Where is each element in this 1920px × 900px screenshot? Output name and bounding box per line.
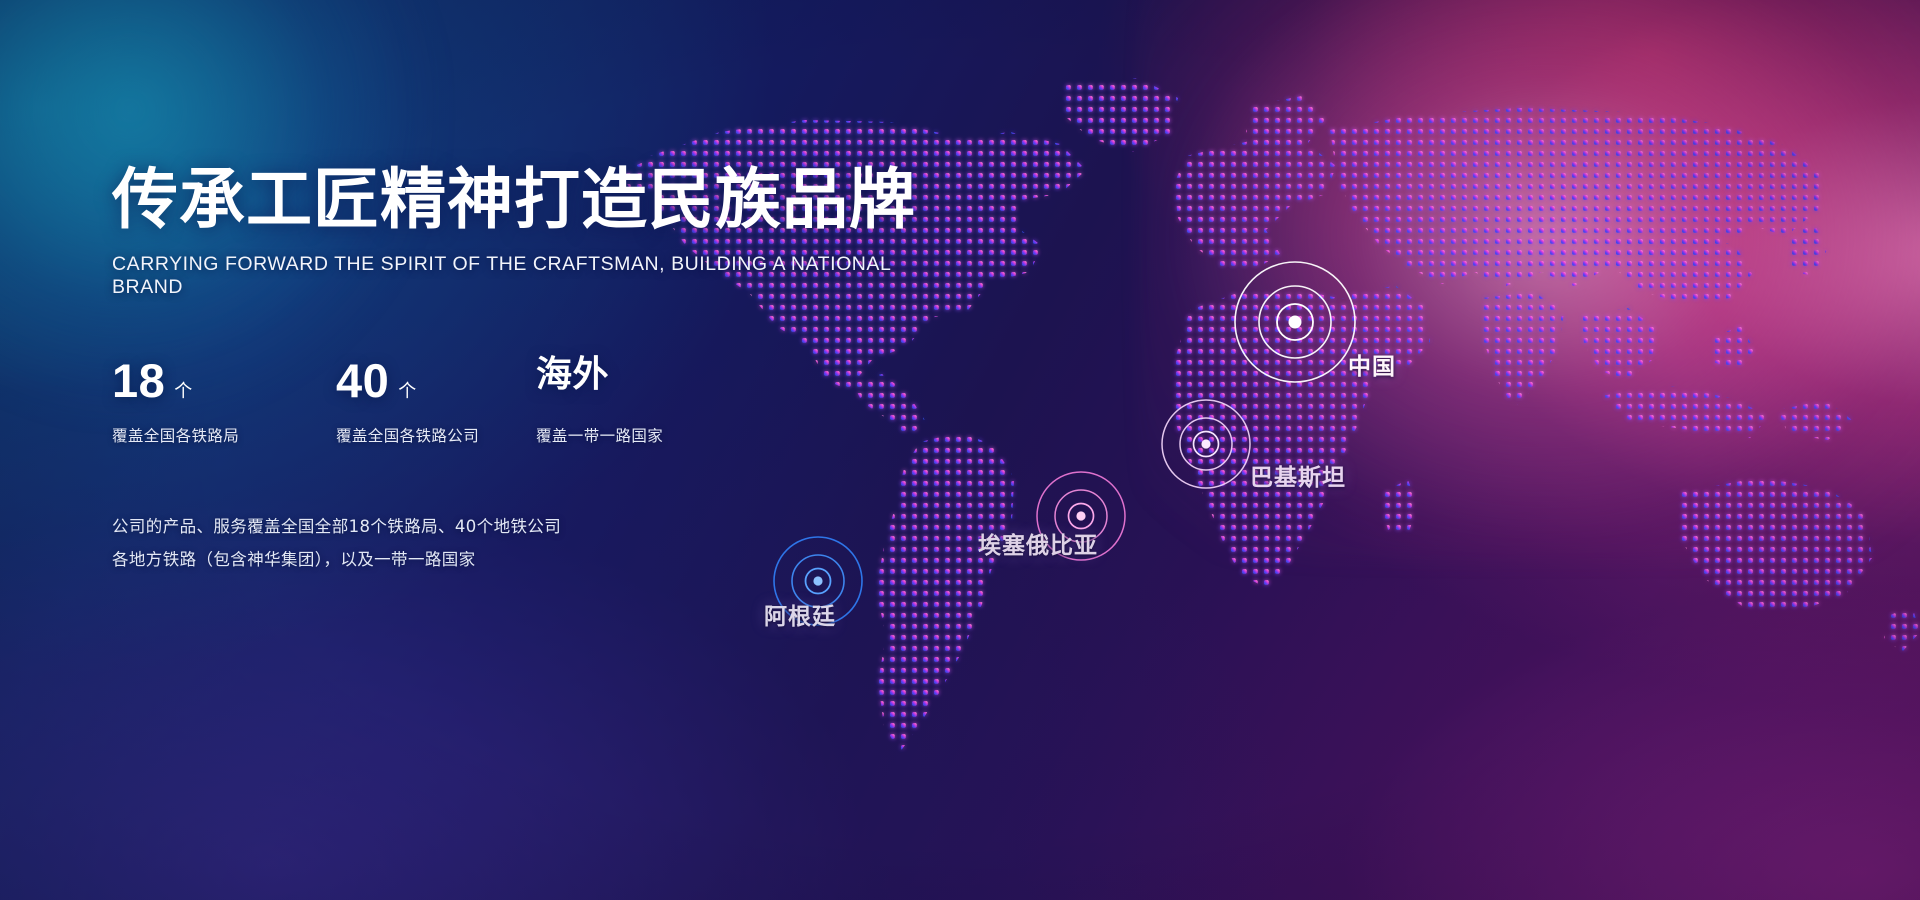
page-title: 传承工匠精神打造民族品牌 [112,0,932,235]
body-paragraph: 公司的产品、服务覆盖全国全部18个铁路局、40个地铁公司 各地方铁路（包含神华集… [112,510,932,576]
body-line-2: 各地方铁路（包含神华集团），以及一带一路国家 [112,543,932,576]
hero-content: 传承工匠精神打造民族品牌 CARRYING FORWARD THE SPIRIT… [112,0,932,576]
stat-description: 覆盖全国各铁路局 [112,424,336,446]
stat-unit: 个 [174,377,192,403]
stat-value: 18 [112,357,165,404]
page-subtitle: CARRYING FORWARD THE SPIRIT OF THE CRAFT… [112,253,932,299]
stats-row: 18 个 覆盖全国各铁路局 40 个 覆盖全国各铁路公司 海外 覆盖一带一路国家 [112,357,932,446]
stat-item-railway-companies: 40 个 覆盖全国各铁路公司 [336,357,536,446]
stat-description: 覆盖一带一路国家 [536,424,760,446]
stat-unit: 个 [398,377,416,403]
stat-value: 40 [336,357,389,404]
stat-description: 覆盖全国各铁路公司 [336,424,536,446]
stat-value: 海外 [536,357,609,393]
banner-stage: 中国 巴基斯坦 埃塞俄比亚 [0,0,1920,900]
stat-value-group: 18 个 [112,357,336,411]
stat-value-group: 40 个 [336,357,536,411]
stat-item-railway-bureaus: 18 个 覆盖全国各铁路局 [112,357,336,446]
stat-item-overseas: 海外 覆盖一带一路国家 [536,357,760,446]
body-line-1: 公司的产品、服务覆盖全国全部18个铁路局、40个地铁公司 [112,510,932,543]
stat-value-group: 海外 [536,357,760,411]
